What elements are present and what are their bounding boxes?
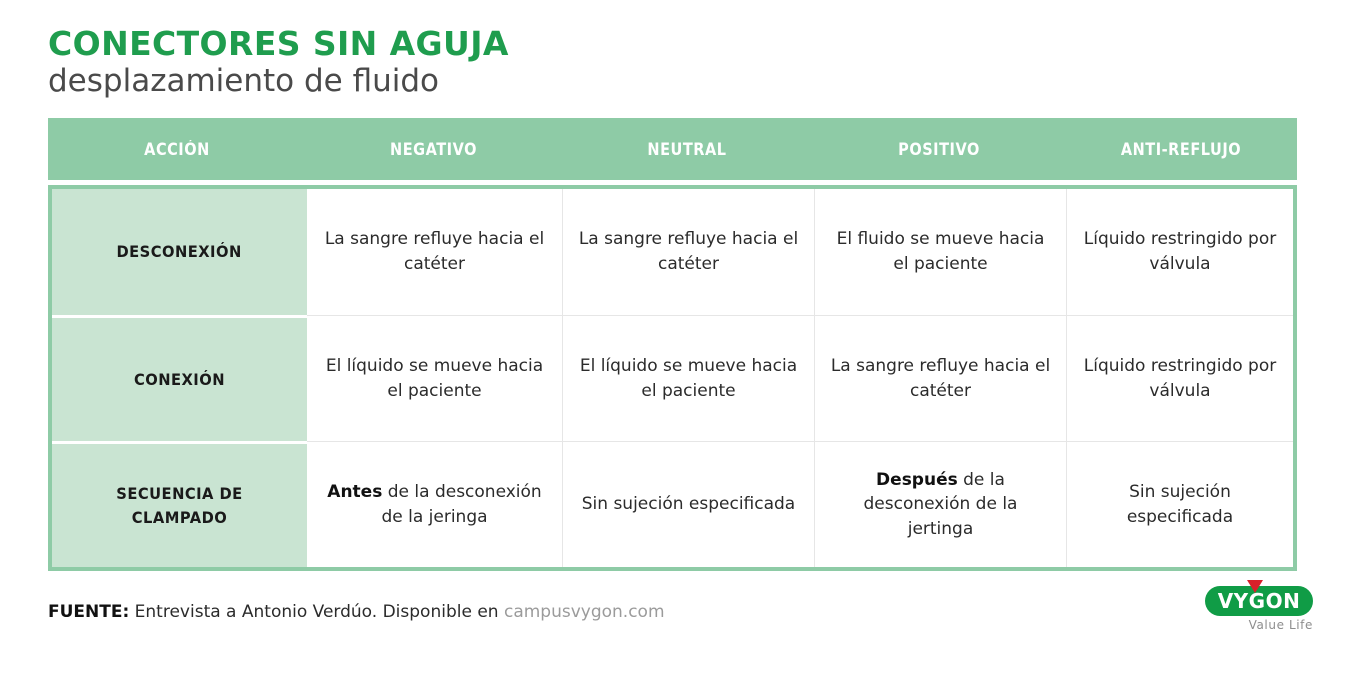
logo-tagline: Value Life [1199, 618, 1313, 632]
comparison-table: ACCIÓN NEGATIVO NEUTRAL POSITIVO ANTI-RE… [48, 118, 1297, 571]
cell-secuencia-anti-reflujo: Sin sujeción especificada [1066, 441, 1293, 567]
source-link[interactable]: campusvygon.com [504, 602, 665, 622]
column-header-neutral: NEUTRAL [576, 140, 798, 159]
cell-conexion-neutral: El líquido se mueve hacia el paciente [562, 315, 814, 441]
table-body: DESCONEXIÓN La sangre refluye hacia el c… [48, 185, 1297, 571]
cell-secuencia-positivo: Después de la desconexión de la jertinga [814, 441, 1066, 567]
page-subtitle: desplazamiento de fluido [48, 64, 948, 99]
table-header-row: ACCIÓN NEGATIVO NEUTRAL POSITIVO ANTI-RE… [48, 118, 1297, 180]
row-label-text: CONEXIÓN [134, 368, 225, 391]
column-header-accion: ACCIÓN [63, 140, 290, 159]
cell-conexion-negativo: El líquido se mueve hacia el paciente [307, 315, 562, 441]
cell-desconexion-positivo: El fluido se mueve hacia el paciente [814, 189, 1066, 315]
column-header-anti-reflujo: ANTI-REFLUJO [1079, 140, 1283, 159]
table-row: DESCONEXIÓN La sangre refluye hacia el c… [52, 189, 1293, 315]
cell-text-rest: de la desconexión de la jeringa [381, 482, 541, 527]
source-text: Entrevista a Antonio Verdúo. Disponible … [129, 602, 504, 622]
title-block: CONECTORES SIN AGUJA desplazamiento de f… [48, 26, 948, 98]
cell-emphasis-antes: Antes [327, 482, 382, 502]
row-label-text: DESCONEXIÓN [117, 240, 242, 263]
cell-secuencia-negativo: Antes de la desconexión de la jeringa [307, 441, 562, 567]
cell-desconexion-anti-reflujo: Líquido restringido por válvula [1066, 189, 1293, 315]
cell-desconexion-neutral: La sangre refluye hacia el catéter [562, 189, 814, 315]
column-header-positivo: POSITIVO [828, 140, 1050, 159]
page-title: CONECTORES SIN AGUJA [48, 26, 948, 62]
cell-secuencia-neutral: Sin sujeción especificada [562, 441, 814, 567]
table-row: CONEXIÓN El líquido se mueve hacia el pa… [52, 315, 1293, 441]
vygon-logo: VYGON Value Life [1199, 580, 1319, 636]
cell-conexion-anti-reflujo: Líquido restringido por válvula [1066, 315, 1293, 441]
row-label-conexion: CONEXIÓN [52, 315, 307, 441]
column-header-negativo: NEGATIVO [321, 140, 545, 159]
row-label-desconexion: DESCONEXIÓN [52, 189, 307, 315]
table-row: SECUENCIA DE CLAMPADO Antes de la descon… [52, 441, 1293, 567]
source-label: FUENTE: [48, 602, 129, 622]
cell-desconexion-negativo: La sangre refluye hacia el catéter [307, 189, 562, 315]
row-label-text: SECUENCIA DE CLAMPADO [75, 482, 284, 528]
source-footer: FUENTE: Entrevista a Antonio Verdúo. Dis… [48, 602, 665, 622]
row-label-secuencia-de-clampado: SECUENCIA DE CLAMPADO [52, 441, 307, 567]
logo-triangle-icon [1247, 580, 1263, 593]
cell-emphasis-despues: Después [876, 470, 958, 490]
infographic-page: CONECTORES SIN AGUJA desplazamiento de f… [0, 0, 1345, 684]
cell-conexion-positivo: La sangre refluye hacia el catéter [814, 315, 1066, 441]
